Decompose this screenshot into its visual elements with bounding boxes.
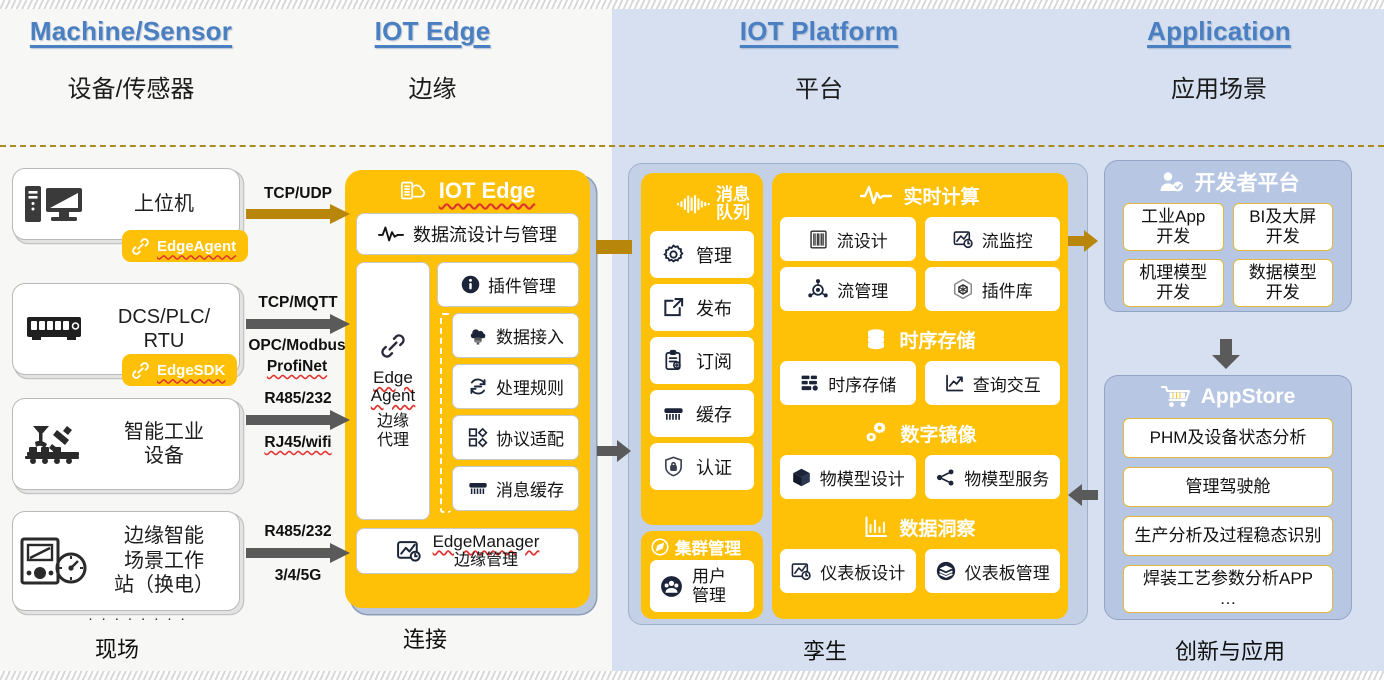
cluster-item-label: 用户 管理 xyxy=(692,567,726,605)
pulse-wave-icon xyxy=(378,224,404,244)
app-chip-industrial-app-dev[interactable]: 工业App 开发 xyxy=(1123,203,1224,251)
app-chip-line2: 开发 xyxy=(1141,227,1205,247)
appstore-chip-text: 管理驾驶舱 xyxy=(1186,477,1271,497)
edge-chip-label: 插件管理 xyxy=(488,272,556,297)
edge-chip-data-ingest[interactable]: 数据接入 xyxy=(452,313,579,358)
mq-item-manage[interactable]: 管理 xyxy=(650,231,754,278)
platform-cell-label: 仪表板管理 xyxy=(965,559,1050,584)
appstore-chip-phm-analysis[interactable]: PHM及设备状态分析 xyxy=(1123,418,1333,458)
edge-agent-en-line1: Edge xyxy=(371,369,415,387)
bottom-hatch-border xyxy=(0,671,1384,680)
message-queue-title: 消息 队列 xyxy=(650,177,754,231)
cluster-title-text: 集群管理 xyxy=(675,535,741,559)
device-box-edge-workstation[interactable]: 边缘智能 场景工作 站（换电） xyxy=(12,511,240,611)
arrow-edge-to-platform xyxy=(597,440,631,462)
device-label-dcs-plc-rtu: DCS/PLC/ RTU xyxy=(95,305,239,354)
header-cn-machine-sensor: 设备/传感器 xyxy=(0,69,262,104)
device-label-line-3: 站（换电） xyxy=(95,573,233,597)
gear-icon xyxy=(662,243,685,266)
appstore-title: AppStore xyxy=(1123,376,1333,418)
platform-cell-label: 时序存储 xyxy=(828,371,896,396)
header-cn-iot-edge: 边缘 xyxy=(300,69,565,104)
appstore-card: AppStore PHM及设备状态分析 管理驾驶舱 生产分析及过程稳态识别 焊装… xyxy=(1104,375,1352,620)
platform-cell-label: 物模型设计 xyxy=(820,465,905,490)
info-circle-icon xyxy=(460,274,481,295)
pulse-icon xyxy=(860,184,892,206)
edge-manager-card[interactable]: EdgeManager 边缘管理 xyxy=(356,528,579,574)
section-row: 物模型设计 物模型服务 xyxy=(780,455,1060,499)
app-chip-mechanism-model-dev[interactable]: 机理模型 开发 xyxy=(1123,259,1224,307)
flow-manage-icon xyxy=(807,278,829,300)
app-chip-data-model-dev[interactable]: 数据模型 开发 xyxy=(1233,259,1334,307)
platform-main-card: 实时计算 流设计 xyxy=(772,173,1068,619)
section-row: 仪表板设计 仪表板管理 xyxy=(780,549,1060,593)
column-header-iot-edge: IOT Edge 边缘 xyxy=(300,16,565,104)
protocol-label-3g-4g-5g: 3/4/5G xyxy=(246,567,350,585)
header-cn-application: 应用场景 xyxy=(1080,69,1358,104)
edge-agent-en-line2: Agent xyxy=(371,387,415,405)
cluster-item-line1: 用户 xyxy=(692,567,726,586)
platform-cell-label: 流管理 xyxy=(837,277,888,302)
plugin-library-icon xyxy=(952,278,974,300)
edge-chip-dataflow[interactable]: 数据流设计与管理 xyxy=(356,213,579,255)
arrow-device-to-edge-4 xyxy=(246,543,350,563)
arrow-platform-to-application xyxy=(1068,230,1098,252)
edge-manager-icon xyxy=(396,539,423,564)
horizontal-dashed-divider xyxy=(0,145,1384,147)
edge-chip-plugin-management[interactable]: 插件管理 xyxy=(437,262,579,307)
header-en-machine-sensor: Machine/Sensor xyxy=(0,16,262,47)
platform-cell-label: 流监控 xyxy=(982,227,1033,252)
cache-icon xyxy=(662,404,685,424)
data-ingest-icon xyxy=(467,325,489,346)
edge-manager-en: EdgeManager xyxy=(433,533,540,552)
edge-agent-card[interactable]: Edge Agent 边缘 代理 xyxy=(356,262,430,520)
mq-item-label: 发布 xyxy=(696,295,732,321)
diagram-stage: Machine/Sensor 设备/传感器 IOT Edge 边缘 IOT Pl… xyxy=(0,0,1384,680)
appstore-chip-list: PHM及设备状态分析 管理驾驶舱 生产分析及过程稳态识别 焊装工艺参数分析APP… xyxy=(1123,418,1333,613)
appstore-title-text: AppStore xyxy=(1201,385,1296,409)
process-rule-icon xyxy=(467,376,489,397)
mq-title-line2: 队列 xyxy=(716,204,750,222)
app-chip-row: 机理模型 开发 数据模型 开发 xyxy=(1123,259,1333,307)
message-cache-icon xyxy=(467,479,489,498)
iot-edge-panel-title: IOT Edge xyxy=(345,170,590,212)
subscribe-icon xyxy=(662,349,685,372)
protocol-label-opc-modbus: OPC/Modbus xyxy=(236,337,358,355)
mq-title-line1: 消息 xyxy=(716,186,750,204)
platform-cell-thing-model-service[interactable]: 物模型服务 xyxy=(925,455,1061,499)
edge-chip-column: 插件管理 数据接入 xyxy=(437,262,579,520)
iot-edge-panel: IOT Edge 数据流设计与管理 Edge xyxy=(345,170,590,608)
app-chip-line2: 开发 xyxy=(1249,227,1316,247)
developer-platform-title: 开发者平台 xyxy=(1123,161,1333,203)
footer-label-connect: 连接 xyxy=(370,622,480,654)
platform-cell-tsdb-storage[interactable]: 时序存储 xyxy=(780,361,916,405)
robot-arm-icon xyxy=(13,420,95,468)
link-chain-icon xyxy=(130,360,151,381)
compass-icon xyxy=(650,537,670,557)
protocol-label-tcp-udp: TCP/UDP xyxy=(246,185,350,203)
bar-chart-icon xyxy=(864,516,888,538)
cluster-management-title: 集群管理 xyxy=(650,534,754,560)
shopping-cart-icon xyxy=(1161,385,1191,409)
mq-item-subscribe[interactable]: 订阅 xyxy=(650,337,754,384)
section-row: 流设计 流监控 xyxy=(780,217,1060,261)
app-chip-row: 工业App 开发 BI及大屏 开发 xyxy=(1123,203,1333,251)
section-row: 时序存储 查询交互 xyxy=(780,361,1060,405)
database-icon xyxy=(864,327,888,351)
badge-label-edge-sdk: EdgeSDK xyxy=(157,362,225,379)
protocol-label-profinet: ProfiNet xyxy=(236,358,358,376)
section-title-text: 时序存储 xyxy=(899,326,975,353)
edge-chip-process-rules[interactable]: 处理规则 xyxy=(452,364,579,409)
plc-rack-icon xyxy=(13,309,95,349)
protocol-label-rj45-wifi: RJ45/wifi xyxy=(246,434,350,452)
device-label-line-2: 设备 xyxy=(95,444,233,468)
appstore-chip-production-analysis[interactable]: 生产分析及过程稳态识别 xyxy=(1123,516,1333,556)
device-box-smart-industrial-equipment[interactable]: 智能工业 设备 xyxy=(12,398,240,490)
platform-cell-flow-design[interactable]: 流设计 xyxy=(780,217,916,261)
layers-icon xyxy=(935,560,957,582)
mq-item-label: 缓存 xyxy=(696,401,732,427)
column-header-machine-sensor: Machine/Sensor 设备/传感器 xyxy=(0,16,262,104)
edge-manager-cn: 边缘管理 xyxy=(433,552,540,570)
developer-platform-card: 开发者平台 工业App 开发 BI及大屏 开发 机理模型 开发 xyxy=(1104,160,1352,312)
app-chip-text: 数据模型 开发 xyxy=(1249,263,1317,302)
appstore-chip-text: PHM及设备状态分析 xyxy=(1150,428,1307,448)
app-chip-line2: 开发 xyxy=(1139,283,1207,303)
edge-agent-cn-line2: 代理 xyxy=(377,432,409,451)
edge-title-text: IOT Edge xyxy=(439,178,536,204)
column-header-application: Application 应用场景 xyxy=(1080,16,1358,104)
section-title-text: 数字镜像 xyxy=(900,420,976,447)
section-title-digital-twin: 数字镜像 xyxy=(780,411,1060,455)
mq-item-label: 订阅 xyxy=(696,348,732,374)
waveform-icon xyxy=(677,194,711,214)
protocol-adapt-icon xyxy=(467,427,489,448)
footer-dots-decoration: · · · · · · · · xyxy=(88,610,187,627)
appstore-chip-welding-parameter-app[interactable]: 焊装工艺参数分析APP … xyxy=(1123,565,1333,613)
cube-icon xyxy=(791,467,812,488)
device-label-line-1: DCS/PLC/ xyxy=(95,305,233,329)
share-nodes-icon xyxy=(935,467,956,488)
footer-label-innovation: 创新与应用 xyxy=(1160,634,1300,666)
mq-item-auth[interactable]: 认证 xyxy=(650,443,754,490)
edge-chip-message-cache[interactable]: 消息缓存 xyxy=(452,466,579,511)
platform-cell-thing-model-design[interactable]: 物模型设计 xyxy=(780,455,916,499)
platform-cell-flow-monitor[interactable]: 流监控 xyxy=(925,217,1061,261)
edge-cloud-icon xyxy=(400,179,430,203)
edge-chip-label: 数据接入 xyxy=(496,323,564,348)
arrow-device-to-edge-2 xyxy=(246,314,350,334)
device-label-host-computer: 上位机 xyxy=(95,192,239,216)
column-header-iot-platform: IOT Platform 平台 xyxy=(680,16,958,104)
section-title-text: 数据洞察 xyxy=(899,514,975,541)
section-row: 流管理 插件库 xyxy=(780,267,1060,311)
flow-design-icon xyxy=(808,229,829,250)
publish-icon xyxy=(662,296,685,319)
device-label-line-1: 智能工业 xyxy=(95,420,233,444)
arrow-application-to-platform xyxy=(1068,484,1098,506)
device-label-line-2: 场景工作 xyxy=(95,549,233,573)
protocol-label-r485-232-b: R485/232 xyxy=(246,523,350,541)
edge-chip-label: 协议适配 xyxy=(496,425,564,450)
app-chip-line2: 开发 xyxy=(1249,283,1317,303)
header-en-application: Application xyxy=(1080,16,1358,47)
platform-cell-dashboard-manage[interactable]: 仪表板管理 xyxy=(925,549,1061,593)
link-chain-icon xyxy=(130,236,151,257)
app-chip-line1: 工业App xyxy=(1141,207,1205,227)
app-chip-text: 工业App 开发 xyxy=(1141,207,1205,246)
tsdb-icon xyxy=(799,373,820,394)
platform-cell-label: 查询交互 xyxy=(973,371,1041,396)
gears-icon xyxy=(863,421,889,445)
edge-chip-label: 数据流设计与管理 xyxy=(413,221,557,247)
cluster-item-user-management[interactable]: 用户 管理 xyxy=(650,560,754,612)
cluster-management-card: 集群管理 用户 管理 xyxy=(641,531,763,619)
badge-edge-sdk[interactable]: EdgeSDK xyxy=(122,354,237,386)
flow-monitor-icon xyxy=(952,229,974,250)
section-title-realtime-compute: 实时计算 xyxy=(780,173,1060,217)
arrow-device-to-edge-3 xyxy=(246,410,350,430)
footer-label-twin: 孪生 xyxy=(770,634,880,666)
app-chip-bi-bigscreen-dev[interactable]: BI及大屏 开发 xyxy=(1233,203,1334,251)
section-title-timeseries-storage: 时序存储 xyxy=(780,317,1060,361)
app-chip-line1: 机理模型 xyxy=(1139,263,1207,283)
badge-label-edge-agent: EdgeAgent xyxy=(157,238,236,255)
connector-edge-to-platform-gold xyxy=(596,240,632,254)
platform-cell-label: 流设计 xyxy=(837,227,888,252)
edge-chip-label: 处理规则 xyxy=(496,374,564,399)
protocol-label-tcp-mqtt: TCP/MQTT xyxy=(240,294,356,312)
mq-item-label: 认证 xyxy=(696,454,732,480)
edge-chip-label: 消息缓存 xyxy=(496,476,564,501)
arrow-device-to-edge-1 xyxy=(246,204,350,224)
appstore-chip-text: 生产分析及过程稳态识别 xyxy=(1135,526,1322,546)
platform-cell-query-interaction[interactable]: 查询交互 xyxy=(925,361,1061,405)
mq-item-publish[interactable]: 发布 xyxy=(650,284,754,331)
message-queue-card: 消息 队列 管理 发布 xyxy=(641,173,763,525)
edge-agent-cn: 边缘 代理 xyxy=(377,413,409,451)
device-label-line-2: RTU xyxy=(95,329,233,353)
edge-manager-text: EdgeManager 边缘管理 xyxy=(433,533,540,569)
app-chip-text: BI及大屏 开发 xyxy=(1249,207,1316,246)
appstore-chip-management-cockpit[interactable]: 管理驾驶舱 xyxy=(1123,467,1333,507)
platform-cell-label: 仪表板设计 xyxy=(820,559,905,584)
desktop-computer-icon xyxy=(13,182,95,226)
message-queue-title-text: 消息 队列 xyxy=(716,186,750,222)
app-chip-line1: BI及大屏 xyxy=(1249,207,1316,227)
protocol-label-r485-232-a: R485/232 xyxy=(246,390,350,408)
footer-label-field: 现场 xyxy=(62,632,172,664)
gauge-meter-icon xyxy=(13,534,95,588)
developer-platform-title-text: 开发者平台 xyxy=(1195,167,1300,197)
app-chip-text: 机理模型 开发 xyxy=(1139,263,1207,302)
device-label-edge-workstation: 边缘智能 场景工作 站（换电） xyxy=(95,524,239,597)
platform-cell-plugin-library[interactable]: 插件库 xyxy=(925,267,1061,311)
platform-cell-dashboard-design[interactable]: 仪表板设计 xyxy=(780,549,916,593)
header-cn-iot-platform: 平台 xyxy=(680,69,958,104)
edge-agent-cn-line1: 边缘 xyxy=(377,413,409,432)
device-label-line-1: 边缘智能 xyxy=(95,524,233,548)
query-chart-icon xyxy=(944,373,965,394)
mq-item-label: 管理 xyxy=(696,242,732,268)
badge-edge-agent[interactable]: EdgeAgent xyxy=(122,230,248,262)
arrow-dev-platform-to-appstore xyxy=(1212,339,1240,369)
mq-item-cache[interactable]: 缓存 xyxy=(650,390,754,437)
link-chain-icon xyxy=(378,331,408,361)
platform-cell-flow-manage[interactable]: 流管理 xyxy=(780,267,916,311)
section-title-data-insight: 数据洞察 xyxy=(780,505,1060,549)
section-title-text: 实时计算 xyxy=(903,182,979,209)
dashboard-design-icon xyxy=(790,561,812,582)
users-icon xyxy=(659,574,684,599)
top-hatch-border xyxy=(0,0,1384,9)
user-verified-icon xyxy=(1157,170,1185,194)
header-en-iot-platform: IOT Platform xyxy=(680,16,958,47)
platform-cell-label: 插件库 xyxy=(982,277,1033,302)
shield-lock-icon xyxy=(662,455,685,478)
device-label-smart-industrial-equipment: 智能工业 设备 xyxy=(95,420,239,469)
edge-middle-row: Edge Agent 边缘 代理 xyxy=(356,262,579,520)
appstore-chip-text: 焊装工艺参数分析APP xyxy=(1143,569,1313,589)
app-chip-line1: 数据模型 xyxy=(1249,263,1317,283)
cluster-item-line2: 管理 xyxy=(692,586,726,605)
platform-cell-label: 物模型服务 xyxy=(964,465,1049,490)
edge-agent-name: Edge Agent xyxy=(371,369,415,405)
edge-chip-protocol-adapt[interactable]: 协议适配 xyxy=(452,415,579,460)
dashed-brace-decoration xyxy=(440,313,451,513)
appstore-chip-ellipsis: … xyxy=(1220,589,1237,609)
header-en-iot-edge: IOT Edge xyxy=(300,16,565,47)
